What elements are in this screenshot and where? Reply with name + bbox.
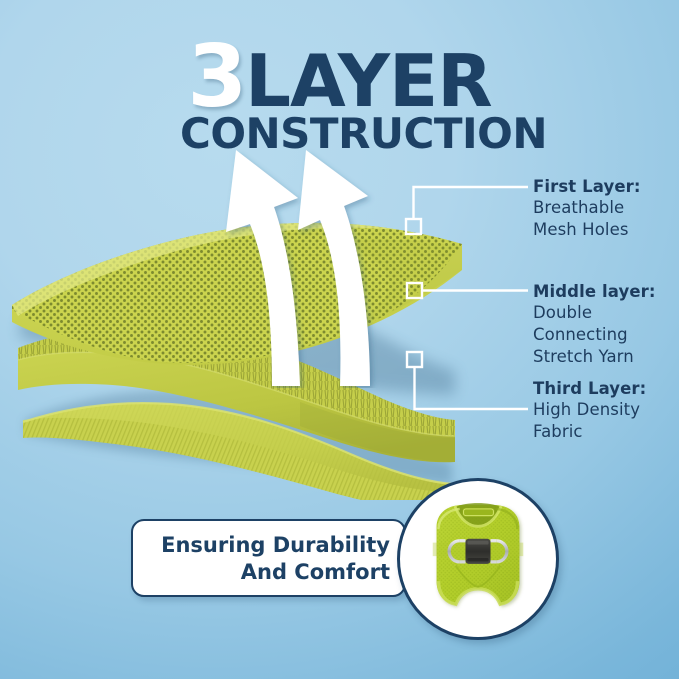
connector-first-layer bbox=[406, 187, 528, 234]
callout-first-layer: First Layer: Breathable Mesh Holes bbox=[533, 176, 641, 241]
callout-line: Mesh Holes bbox=[533, 219, 641, 241]
dog-harness-illustration bbox=[400, 481, 556, 637]
callout-line: Double bbox=[533, 302, 656, 324]
tagline-text: Ensuring Durability And Comfort bbox=[134, 532, 390, 586]
callout-title: Middle layer: bbox=[533, 281, 656, 302]
square-marker-icon-3 bbox=[407, 352, 422, 367]
infographic-canvas: 3LAYER CONSTRUCTION First Layer: Breatha… bbox=[0, 0, 679, 679]
square-marker-icon-2 bbox=[407, 283, 422, 298]
connector-middle-layer bbox=[407, 283, 528, 298]
callout-third-layer: Third Layer: High Density Fabric bbox=[533, 378, 646, 443]
square-marker-icon-1 bbox=[406, 219, 421, 234]
tagline-line-1: Ensuring Durability bbox=[134, 532, 390, 559]
callout-title: Third Layer: bbox=[533, 378, 646, 399]
harness-buckle bbox=[465, 539, 490, 564]
callout-line: Stretch Yarn bbox=[533, 346, 656, 368]
callout-middle-layer: Middle layer: Double Connecting Stretch … bbox=[533, 281, 656, 368]
connector-third-layer bbox=[407, 352, 528, 409]
product-photo-circle bbox=[397, 478, 559, 640]
callout-line: High Density bbox=[533, 399, 646, 421]
tagline-line-2: And Comfort bbox=[134, 559, 390, 586]
callout-line: Breathable bbox=[533, 197, 641, 219]
callout-line: Fabric bbox=[533, 421, 646, 443]
tagline-banner: Ensuring Durability And Comfort bbox=[131, 519, 406, 597]
callout-title: First Layer: bbox=[533, 176, 641, 197]
callout-line: Connecting bbox=[533, 324, 656, 346]
